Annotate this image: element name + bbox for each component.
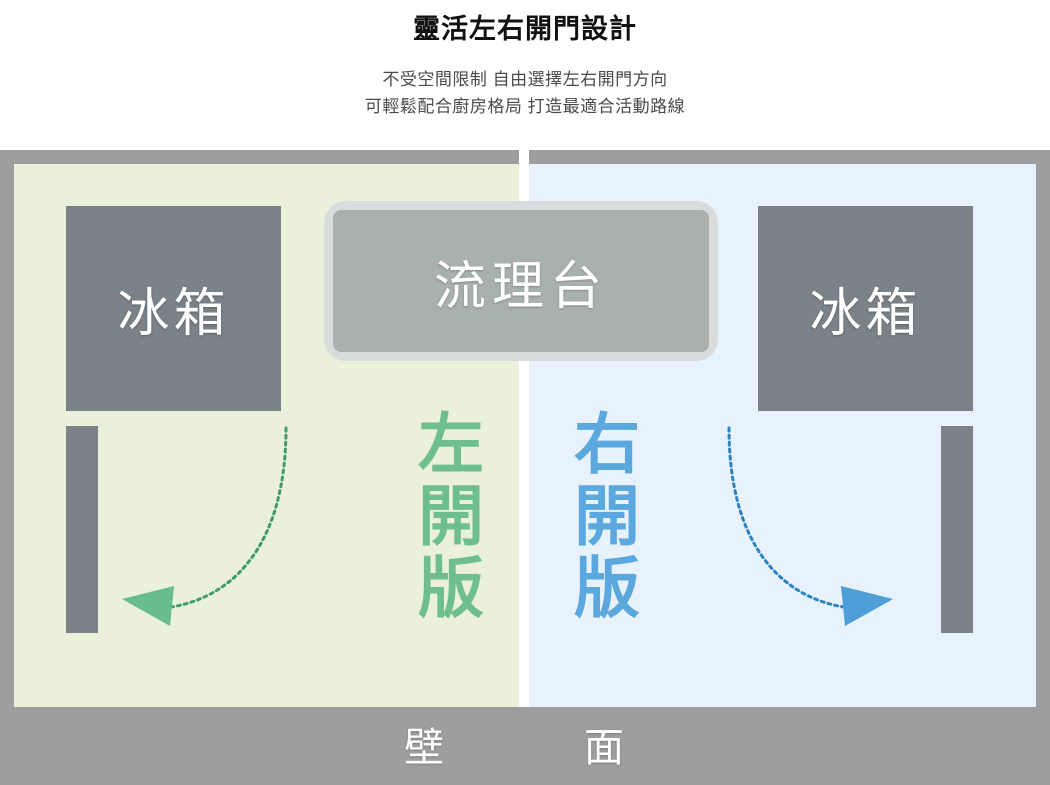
subtitle-line-2: 可輕鬆配合廚房格局 打造最適合活動路線 — [0, 93, 1050, 120]
counter-label: 流理台 — [434, 244, 608, 319]
wall-bar: 壁 面 — [0, 707, 1050, 785]
kitchen-counter: 流理台 — [324, 201, 718, 361]
wall-label-right: 面 — [584, 715, 627, 773]
subtitle-block: 不受空間限制 自由選擇左右開門方向 可輕鬆配合廚房格局 打造最適合活動路線 — [0, 66, 1050, 120]
kitchen-layout-diagram: 左開版 冰箱 右開版 冰箱 流理台 壁 面 — [0, 150, 1050, 785]
header: 靈活左右開門設計 不受空間限制 自由選擇左右開門方向 可輕鬆配合廚房格局 打造最… — [0, 0, 1050, 120]
wall-label-left: 壁 — [404, 715, 447, 773]
subtitle-line-1: 不受空間限制 自由選擇左右開門方向 — [0, 66, 1050, 93]
page-title: 靈活左右開門設計 — [0, 10, 1050, 48]
counter-surface: 流理台 — [333, 210, 709, 352]
